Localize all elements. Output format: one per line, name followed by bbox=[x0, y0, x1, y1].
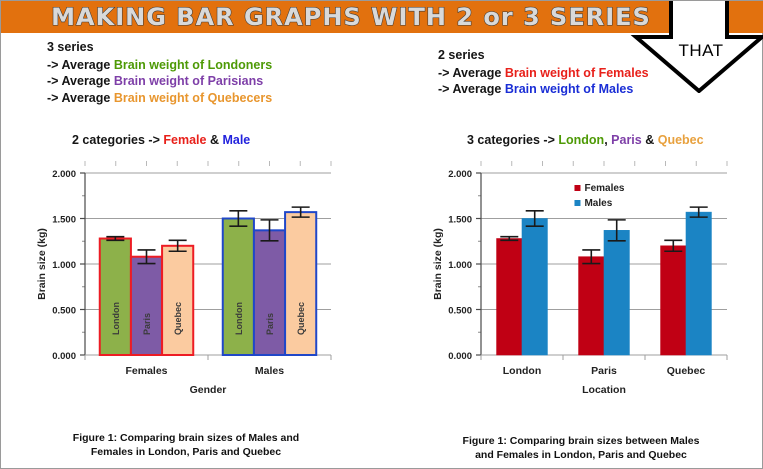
x-category-labels: LondonParisQuebec bbox=[503, 365, 706, 377]
x-category-label: London bbox=[503, 365, 541, 377]
legend-swatch bbox=[574, 185, 580, 191]
bars-group bbox=[497, 212, 712, 355]
y-axis-title: Brain size (kg) bbox=[36, 228, 48, 300]
bar bbox=[497, 239, 522, 355]
y-tick-label: 2.000 bbox=[52, 169, 76, 180]
series-right-item-0: -> Average Brain weight of Females bbox=[438, 65, 649, 82]
y-tick-label: 0.500 bbox=[52, 306, 76, 317]
bar-inner-label: Paris bbox=[265, 313, 275, 335]
series-left-item-1: -> Average Brain weight of Parisians bbox=[47, 73, 272, 90]
bar-inner-label: Paris bbox=[142, 313, 152, 335]
series-left-item-1-highlight: Brain weight of Parisians bbox=[114, 74, 263, 88]
bar bbox=[162, 246, 193, 355]
bar bbox=[661, 246, 686, 355]
category-caption-left-prefix: 2 categories -> bbox=[72, 133, 163, 147]
series-left-item-2: -> Average Brain weight of Quebecers bbox=[47, 90, 272, 107]
category-caption-right-prefix: 3 categories -> bbox=[467, 133, 558, 147]
series-left-item-0-highlight: Brain weight of Londoners bbox=[114, 58, 272, 72]
category-caption-right: 3 categories -> London, Paris & Quebec bbox=[467, 133, 704, 147]
bar-inner-label: London bbox=[234, 302, 244, 335]
top-tick-marks bbox=[481, 161, 727, 166]
category-caption-left-item2: Male bbox=[222, 133, 250, 147]
series-left-item-0: -> Average Brain weight of Londoners bbox=[47, 57, 272, 74]
top-tick-marks bbox=[85, 161, 331, 166]
chart-right-canvas: 0.0000.5001.0001.5002.000LondonParisQueb… bbox=[419, 159, 739, 409]
x-category-ticks bbox=[481, 355, 727, 360]
series-left-item-1-prefix: -> Average bbox=[47, 74, 114, 88]
category-caption-left-sep: & bbox=[206, 133, 222, 147]
y-tick-label: 0.000 bbox=[448, 351, 472, 362]
category-caption-right-item3: Quebec bbox=[658, 133, 704, 147]
chart-legend: FemalesMales bbox=[574, 183, 624, 209]
x-axis-title: Gender bbox=[190, 384, 227, 396]
y-tick-label: 1.500 bbox=[52, 215, 76, 226]
x-category-labels: FemalesMales bbox=[125, 365, 284, 377]
x-axis-title: Location bbox=[582, 384, 626, 396]
bar bbox=[131, 257, 162, 355]
x-category-label: Quebec bbox=[667, 365, 706, 377]
bar bbox=[254, 230, 285, 355]
series-right-item-1: -> Average Brain weight of Males bbox=[438, 81, 649, 98]
series-description-right: 2 series -> Average Brain weight of Fema… bbox=[438, 47, 649, 98]
category-caption-left: 2 categories -> Female & Male bbox=[72, 133, 250, 147]
series-left-item-2-prefix: -> Average bbox=[47, 91, 114, 105]
figure-caption-left-line2: Females in London, Paris and Quebec bbox=[41, 445, 331, 459]
bar bbox=[100, 239, 131, 355]
series-right-item-0-highlight: Brain weight of Females bbox=[505, 66, 649, 80]
category-caption-left-item1: Female bbox=[163, 133, 206, 147]
series-right-item-0-prefix: -> Average bbox=[438, 66, 505, 80]
y-axis-title: Brain size (kg) bbox=[432, 228, 444, 300]
bar-inner-label: Quebec bbox=[296, 302, 306, 335]
figure-caption-right-line1: Figure 1: Comparing brain sizes between … bbox=[431, 434, 731, 448]
x-category-label: Males bbox=[255, 365, 284, 377]
chart-right: 0.0000.5001.0001.5002.000LondonParisQueb… bbox=[419, 159, 739, 409]
series-left-item-2-highlight: Brain weight of Quebecers bbox=[114, 91, 272, 105]
x-category-label: Paris bbox=[591, 365, 617, 377]
bar bbox=[686, 212, 711, 355]
y-tick-label: 0.500 bbox=[448, 306, 472, 317]
figure-caption-left: Figure 1: Comparing brain sizes of Males… bbox=[41, 431, 331, 459]
legend-label: Males bbox=[584, 198, 612, 209]
series-right-item-1-prefix: -> Average bbox=[438, 82, 505, 96]
bars-group bbox=[100, 212, 316, 355]
bar-inner-label: Quebec bbox=[173, 302, 183, 335]
figure-caption-right-line2: and Females in London, Paris and Quebec bbox=[431, 448, 731, 462]
figure-caption-left-line1: Figure 1: Comparing brain sizes of Males… bbox=[41, 431, 331, 445]
y-tick-label: 0.000 bbox=[52, 351, 76, 362]
y-tick-label: 1.000 bbox=[448, 260, 472, 271]
y-tick-label: 1.000 bbox=[52, 260, 76, 271]
legend-swatch bbox=[574, 200, 580, 206]
chart-left: 0.0000.5001.0001.5002.000LondonParisQueb… bbox=[23, 159, 343, 409]
series-right-item-1-highlight: Brain weight of Males bbox=[505, 82, 634, 96]
legend-label: Females bbox=[584, 183, 624, 194]
bar-inner-label: London bbox=[111, 302, 121, 335]
x-category-label: Females bbox=[125, 365, 167, 377]
bar bbox=[604, 230, 629, 355]
category-caption-right-item2: Paris bbox=[611, 133, 642, 147]
chart-left-canvas: 0.0000.5001.0001.5002.000LondonParisQueb… bbox=[23, 159, 343, 409]
series-right-heading: 2 series bbox=[438, 47, 649, 64]
y-tick-label: 2.000 bbox=[448, 169, 472, 180]
page-title: MAKING BAR GRAPHS WITH 2 or 3 SERIES bbox=[1, 2, 701, 32]
y-tick-label: 1.500 bbox=[448, 215, 472, 226]
arrow-label: THAT bbox=[656, 41, 746, 61]
category-caption-right-item1: London bbox=[558, 133, 604, 147]
series-description-left: 3 series -> Average Brain weight of Lond… bbox=[47, 39, 272, 106]
category-caption-right-sep2: & bbox=[642, 133, 658, 147]
series-left-heading: 3 series bbox=[47, 39, 272, 56]
figure-caption-right: Figure 1: Comparing brain sizes between … bbox=[431, 434, 731, 462]
bar bbox=[522, 219, 547, 356]
series-left-item-0-prefix: -> Average bbox=[47, 58, 114, 72]
bar bbox=[579, 257, 604, 355]
